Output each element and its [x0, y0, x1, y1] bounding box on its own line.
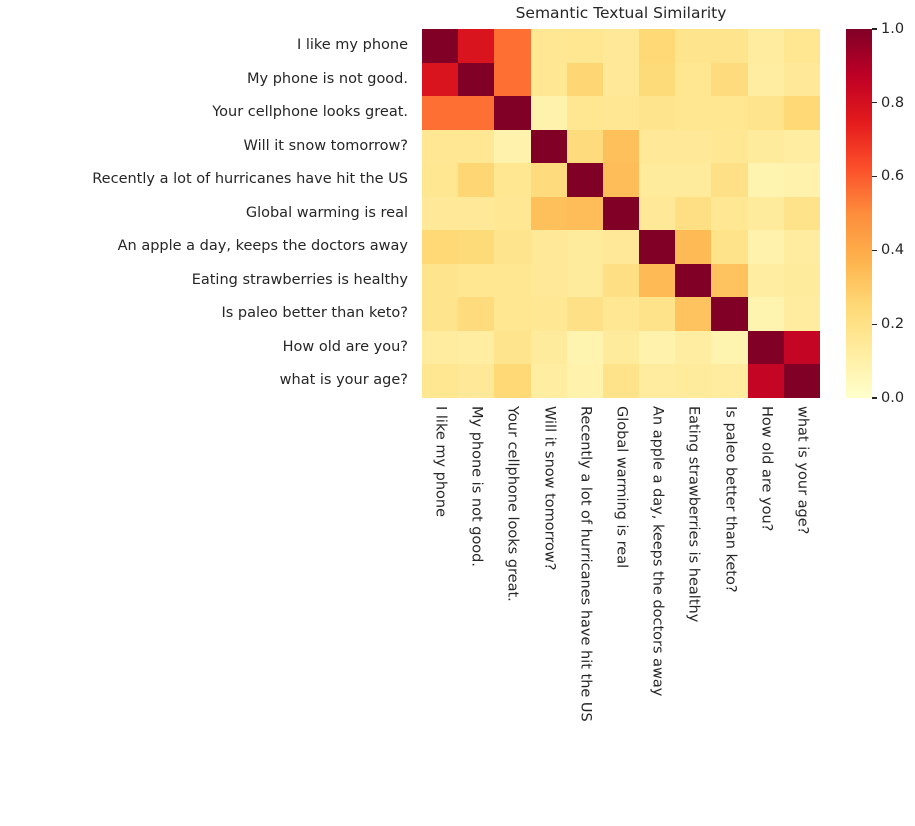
- heatmap-cell: [675, 297, 711, 331]
- y-axis-tick-label: My phone is not good.: [247, 63, 408, 97]
- x-axis-tick-label: what is your age?: [795, 406, 810, 534]
- heatmap-cell: [748, 264, 784, 298]
- heatmap-cell: [711, 230, 747, 264]
- heatmap-cell: [711, 197, 747, 231]
- heatmap-cell: [494, 163, 530, 197]
- heatmap-cell: [458, 63, 494, 97]
- heatmap-cell: [748, 163, 784, 197]
- y-axis-tick-label: I like my phone: [297, 29, 408, 63]
- heatmap-cell: [603, 331, 639, 365]
- page-title: Semantic Textual Similarity: [422, 3, 820, 23]
- heatmap-cell: [531, 130, 567, 164]
- heatmap-cell: [675, 29, 711, 63]
- x-axis-tick-slot: Eating strawberries is healthy: [675, 398, 711, 818]
- heatmap-cell: [567, 331, 603, 365]
- x-axis-tick-slot: I like my phone: [422, 398, 458, 818]
- heatmap-cell: [784, 130, 820, 164]
- heatmap-cell: [748, 331, 784, 365]
- heatmap-cell: [748, 29, 784, 63]
- y-axis-tick-label: Global warming is real: [246, 197, 408, 231]
- heatmap-cell: [784, 197, 820, 231]
- heatmap-cell: [531, 63, 567, 97]
- heatmap-cell: [422, 130, 458, 164]
- colorbar-tick-mark: [872, 324, 877, 325]
- x-axis-tick-label: I like my phone: [433, 406, 448, 517]
- heatmap-cell: [711, 297, 747, 331]
- heatmap-cell: [639, 264, 675, 298]
- heatmap-cell: [458, 130, 494, 164]
- colorbar-gradient: [846, 29, 872, 398]
- y-axis-tick-label: Will it snow tomorrow?: [244, 130, 408, 164]
- heatmap-cell: [784, 264, 820, 298]
- heatmap-cell: [748, 197, 784, 231]
- heatmap-cell: [748, 297, 784, 331]
- heatmap-cell: [711, 331, 747, 365]
- heatmap-cell: [531, 297, 567, 331]
- heatmap-cell: [675, 230, 711, 264]
- colorbar: 1.00.80.60.40.20.0: [846, 29, 915, 398]
- heatmap-cell: [494, 297, 530, 331]
- heatmap-cell: [675, 63, 711, 97]
- heatmap-cell: [494, 264, 530, 298]
- heatmap-cell: [458, 230, 494, 264]
- x-axis-tick-label: Global warming is real: [614, 406, 629, 568]
- x-axis-tick-slot: what is your age?: [784, 398, 820, 818]
- heatmap-cell: [567, 264, 603, 298]
- colorbar-tick-label: 0.0: [881, 391, 904, 406]
- x-axis-tick-label: Eating strawberries is healthy: [686, 406, 701, 622]
- heatmap-cell: [675, 331, 711, 365]
- x-axis-tick-slot: Is paleo better than keto?: [711, 398, 747, 818]
- heatmap-cell: [494, 331, 530, 365]
- y-axis-tick-label: Your cellphone looks great.: [212, 96, 408, 130]
- heatmap-cell: [458, 96, 494, 130]
- heatmap-cell: [603, 96, 639, 130]
- heatmap-cell: [603, 230, 639, 264]
- heatmap-cell: [711, 96, 747, 130]
- heatmap-cell: [531, 364, 567, 398]
- heatmap-cell: [494, 364, 530, 398]
- x-axis-tick-slot: An apple a day, keeps the doctors away: [639, 398, 675, 818]
- heatmap-cell: [567, 96, 603, 130]
- heatmap-cell: [639, 163, 675, 197]
- heatmap-cell: [531, 96, 567, 130]
- heatmap-cell: [748, 63, 784, 97]
- x-axis-tick-slot: Will it snow tomorrow?: [531, 398, 567, 818]
- heatmap-cell: [675, 130, 711, 164]
- heatmap-cell: [567, 197, 603, 231]
- y-axis-tick-labels: I like my phoneMy phone is not good.Your…: [0, 29, 415, 398]
- heatmap-cell: [567, 364, 603, 398]
- heatmap-cell: [639, 331, 675, 365]
- heatmap-cell: [711, 130, 747, 164]
- heatmap-cell: [675, 96, 711, 130]
- heatmap-cell: [531, 163, 567, 197]
- heatmap-cell: [711, 163, 747, 197]
- heatmap-cell: [422, 163, 458, 197]
- heatmap-cell: [603, 364, 639, 398]
- heatmap-cell: [784, 230, 820, 264]
- heatmap-cell: [784, 331, 820, 365]
- heatmap-cell: [675, 264, 711, 298]
- heatmap-cell: [748, 130, 784, 164]
- x-axis-tick-slot: My phone is not good.: [458, 398, 494, 818]
- heatmap-cell: [422, 96, 458, 130]
- heatmap-cell: [711, 63, 747, 97]
- heatmap-cell: [531, 331, 567, 365]
- heatmap-cell: [639, 364, 675, 398]
- heatmap-cell: [748, 230, 784, 264]
- x-axis-tick-slot: Recently a lot of hurricanes have hit th…: [567, 398, 603, 818]
- heatmap-cell: [567, 163, 603, 197]
- y-axis-tick-label: An apple a day, keeps the doctors away: [118, 230, 408, 264]
- heatmap-cell: [603, 264, 639, 298]
- heatmap-cell: [711, 264, 747, 298]
- heatmap-cell: [458, 163, 494, 197]
- heatmap-cell: [531, 230, 567, 264]
- colorbar-tick-label: 0.4: [881, 243, 904, 258]
- colorbar-tick-mark: [872, 250, 877, 251]
- heatmap-cell: [784, 29, 820, 63]
- heatmap-cell: [639, 130, 675, 164]
- heatmap-cell: [603, 29, 639, 63]
- heatmap-cell: [639, 197, 675, 231]
- heatmap-cell: [458, 29, 494, 63]
- x-axis-tick-label: Your cellphone looks great.: [505, 406, 520, 602]
- colorbar-tick-mark: [872, 28, 877, 29]
- heatmap-cell: [458, 297, 494, 331]
- heatmap-cell: [784, 364, 820, 398]
- heatmap-cell: [784, 96, 820, 130]
- heatmap-cell: [422, 197, 458, 231]
- heatmap-cell: [603, 63, 639, 97]
- heatmap-cell: [494, 29, 530, 63]
- heatmap-cell: [603, 130, 639, 164]
- heatmap-cell: [458, 264, 494, 298]
- heatmap-cell: [675, 364, 711, 398]
- y-axis-tick-label: Is paleo better than keto?: [221, 297, 408, 331]
- heatmap-cell: [422, 264, 458, 298]
- heatmap-cell: [567, 63, 603, 97]
- heatmap-cell: [531, 264, 567, 298]
- heatmap-cell: [675, 197, 711, 231]
- heatmap-cell: [784, 63, 820, 97]
- heatmap-plot-area: [422, 29, 820, 398]
- heatmap-cell: [458, 364, 494, 398]
- heatmap-cell: [784, 163, 820, 197]
- heatmap-cell: [531, 29, 567, 63]
- heatmap-cell: [422, 29, 458, 63]
- heatmap-cell: [639, 63, 675, 97]
- colorbar-tick-mark: [872, 102, 877, 103]
- heatmap-cell: [711, 364, 747, 398]
- x-axis-tick-label: My phone is not good.: [469, 406, 484, 567]
- semantic-similarity-figure: Semantic Textual Similarity I like my ph…: [0, 0, 915, 826]
- heatmap-cell: [567, 29, 603, 63]
- heatmap-cell: [494, 130, 530, 164]
- colorbar-tick-mark: [872, 397, 877, 398]
- heatmap-cell: [603, 197, 639, 231]
- heatmap-cell: [422, 230, 458, 264]
- heatmap-cell: [639, 29, 675, 63]
- y-axis-tick-label: Eating strawberries is healthy: [192, 264, 408, 298]
- heatmap-cell: [458, 331, 494, 365]
- heatmap-cell: [711, 29, 747, 63]
- x-axis-tick-slot: Global warming is real: [603, 398, 639, 818]
- heatmap-cell: [567, 130, 603, 164]
- heatmap-cell: [639, 297, 675, 331]
- heatmap-cell: [675, 163, 711, 197]
- x-axis-tick-label: How old are you?: [758, 406, 773, 531]
- x-axis-tick-label: An apple a day, keeps the doctors away: [650, 406, 665, 696]
- heatmap-cell: [494, 197, 530, 231]
- x-axis-tick-label: Will it snow tomorrow?: [541, 406, 556, 570]
- x-axis-tick-labels: I like my phoneMy phone is not good.Your…: [422, 398, 820, 818]
- colorbar-tick-label: 1.0: [881, 22, 904, 37]
- heatmap-cell: [603, 163, 639, 197]
- heatmap-cell: [494, 230, 530, 264]
- heatmap-cell: [567, 297, 603, 331]
- heatmap-cell: [603, 297, 639, 331]
- colorbar-tick-label: 0.2: [881, 317, 904, 332]
- heatmap-cell: [422, 63, 458, 97]
- x-axis-tick-label: Recently a lot of hurricanes have hit th…: [578, 406, 593, 722]
- heatmap-cell: [531, 197, 567, 231]
- heatmap-cell: [494, 63, 530, 97]
- x-axis-tick-label: Is paleo better than keto?: [722, 406, 737, 593]
- heatmap-cell: [494, 96, 530, 130]
- x-axis-tick-slot: Your cellphone looks great.: [494, 398, 530, 818]
- colorbar-tick-mark: [872, 176, 877, 177]
- heatmap-cell: [748, 96, 784, 130]
- heatmap-cell: [639, 96, 675, 130]
- heatmap-cell: [567, 230, 603, 264]
- heatmap-cell: [639, 230, 675, 264]
- colorbar-tick-label: 0.8: [881, 96, 904, 111]
- x-axis-tick-slot: How old are you?: [748, 398, 784, 818]
- heatmap-cell: [748, 364, 784, 398]
- heatmap-cell: [422, 364, 458, 398]
- y-axis-tick-label: what is your age?: [280, 364, 408, 398]
- heatmap-grid: [422, 29, 820, 398]
- heatmap-cell: [422, 331, 458, 365]
- y-axis-tick-label: Recently a lot of hurricanes have hit th…: [92, 163, 408, 197]
- heatmap-cell: [458, 197, 494, 231]
- y-axis-tick-label: How old are you?: [283, 331, 408, 365]
- heatmap-cell: [422, 297, 458, 331]
- colorbar-tick-label: 0.6: [881, 169, 904, 184]
- heatmap-cell: [784, 297, 820, 331]
